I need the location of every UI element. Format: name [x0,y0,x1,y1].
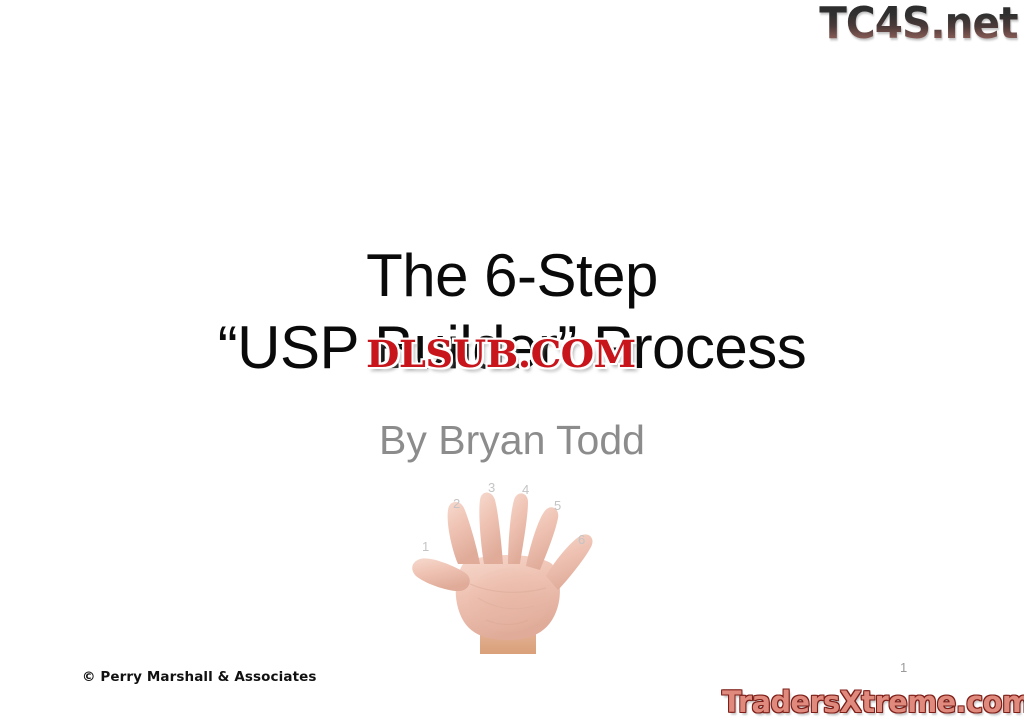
hand-illustration [408,472,618,654]
page-number: 1 [900,660,907,675]
copyright-notice: © Perry Marshall & Associates [82,669,317,685]
finger-label-4: 4 [522,482,529,497]
tradersxtreme-watermark: TradersXtreme.com [722,685,1024,719]
tc4s-logo: TC4S.net [820,2,1018,46]
finger-label-3: 3 [488,480,495,495]
six-fingered-hand-figure: 1 2 3 4 5 6 [408,472,618,654]
finger-label-1: 1 [422,539,429,554]
slide-canvas: TC4S.net The 6-Step “USP Builder” Proces… [0,0,1024,724]
byline: By Bryan Todd [0,415,1024,465]
dlsub-watermark: DLSUB.COM [366,333,636,375]
finger-label-2: 2 [453,496,460,511]
title-line-1: The 6-Step [0,240,1024,312]
finger-label-6: 6 [578,532,585,547]
finger-label-5: 5 [554,498,561,513]
